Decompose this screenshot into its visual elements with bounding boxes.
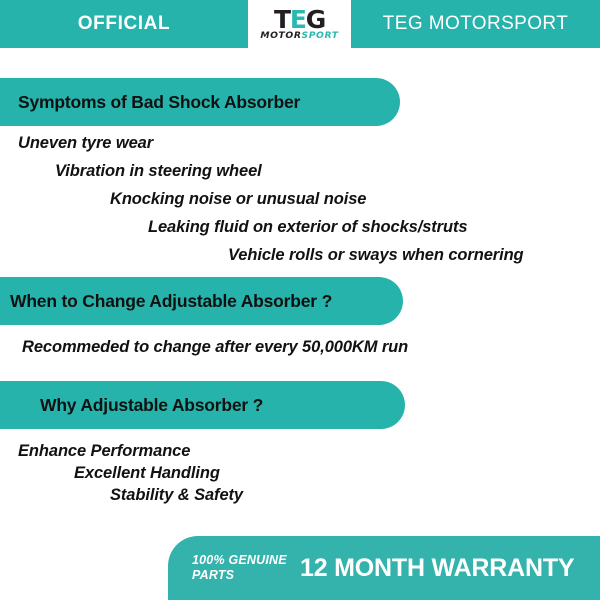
section-heading-why-adjustable-label: Why Adjustable Absorber ? bbox=[40, 395, 263, 416]
header-official-label: OFFICIAL bbox=[78, 13, 170, 35]
warranty-banner: 100% GENUINE PARTS 12 MONTH WARRANTY bbox=[168, 536, 600, 600]
list-item: Recommeded to change after every 50,000K… bbox=[22, 338, 408, 357]
teg-logo-subtitle: MOTORSPORT bbox=[260, 31, 338, 40]
teg-logo: TEG MOTORSPORT bbox=[248, 0, 351, 48]
promo-graphic: OFFICIAL TEG MOTORSPORT TEG MOTORSPORT S… bbox=[0, 0, 600, 600]
header-brand-block: TEG MOTORSPORT bbox=[351, 0, 600, 48]
list-item: Leaking fluid on exterior of shocks/stru… bbox=[148, 218, 467, 237]
list-item: Vehicle rolls or sways when cornering bbox=[228, 246, 524, 265]
list-item: Uneven tyre wear bbox=[18, 134, 153, 153]
list-item: Enhance Performance bbox=[18, 442, 190, 461]
genuine-parts-line-1: 100% GENUINE bbox=[192, 553, 287, 567]
warranty-label: 12 MONTH WARRANTY bbox=[300, 554, 574, 583]
teg-logo-subtitle-motor: MOTOR bbox=[260, 30, 301, 41]
teg-logo-wordmark: TEG bbox=[274, 10, 325, 31]
header-bar: OFFICIAL TEG MOTORSPORT TEG MOTORSPORT bbox=[0, 0, 600, 48]
genuine-parts-badge: 100% GENUINE PARTS bbox=[192, 553, 296, 583]
header-official-block: OFFICIAL bbox=[0, 0, 248, 48]
list-item: Vibration in steering wheel bbox=[55, 162, 262, 181]
list-item: Stability & Safety bbox=[110, 486, 243, 505]
section-heading-why-adjustable: Why Adjustable Absorber ? bbox=[0, 381, 405, 429]
section-heading-symptoms-label: Symptoms of Bad Shock Absorber bbox=[18, 92, 300, 113]
list-item: Excellent Handling bbox=[74, 464, 220, 483]
section-heading-when-to-change-label: When to Change Adjustable Absorber ? bbox=[10, 291, 332, 312]
genuine-parts-line-2: PARTS bbox=[192, 568, 234, 582]
header-brand-label: TEG MOTORSPORT bbox=[383, 13, 568, 35]
teg-logo-subtitle-sport: SPORT bbox=[302, 30, 339, 41]
section-heading-symptoms: Symptoms of Bad Shock Absorber bbox=[0, 78, 400, 126]
list-item: Knocking noise or unusual noise bbox=[110, 190, 366, 209]
section-heading-when-to-change: When to Change Adjustable Absorber ? bbox=[0, 277, 403, 325]
